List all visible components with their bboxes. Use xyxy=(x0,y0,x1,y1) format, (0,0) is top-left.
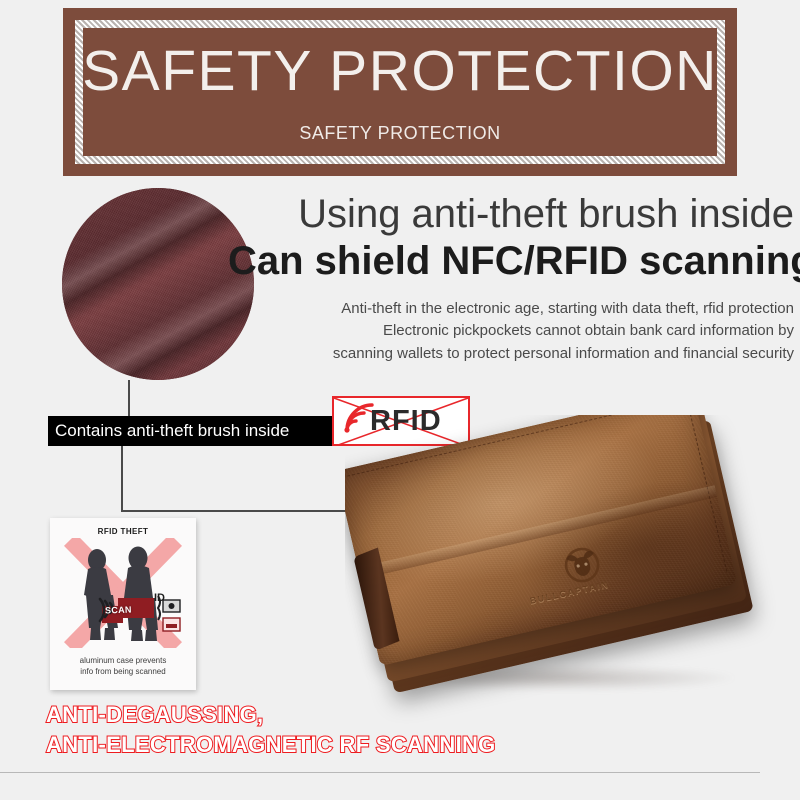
body-line-1: Anti-theft in the electronic age, starti… xyxy=(228,298,794,321)
banner-subtitle: SAFETY PROTECTION xyxy=(299,124,500,142)
wallet-product-image: BULLCAPTAIN xyxy=(345,415,800,745)
headline-line-1: Using anti-theft brush inside xyxy=(228,192,794,237)
theft-card-title: RFID THEFT xyxy=(50,527,196,536)
product-infographic: SAFETY PROTECTION SAFETY PROTECTION Usin… xyxy=(0,0,800,800)
wallet-leather-grain xyxy=(345,415,737,666)
bottom-divider xyxy=(0,772,760,773)
leader-line-label-down xyxy=(121,446,123,512)
footer-claim-line-2: ANTI-ELECTROMAGNETIC RF SCANNING xyxy=(46,730,496,760)
headline-block: Using anti-theft brush inside Can shield… xyxy=(228,192,794,365)
headline-body: Anti-theft in the electronic age, starti… xyxy=(228,298,794,366)
headline-line-2: Can shield NFC/RFID scanning xyxy=(228,239,794,284)
banner-title: SAFETY PROTECTION xyxy=(82,43,718,100)
callout-label-text: Contains anti-theft brush inside xyxy=(55,421,289,441)
rfid-theft-card: RFID THEFT xyxy=(50,518,196,690)
wallet-front-panel: BULLCAPTAIN xyxy=(345,415,737,666)
fabric-closeup-circle xyxy=(62,188,254,380)
footer-claim-line-1: ANTI-DEGAUSSING, xyxy=(46,700,496,730)
header-banner: SAFETY PROTECTION SAFETY PROTECTION xyxy=(63,8,737,176)
fabric-fold-shading xyxy=(62,188,254,380)
theft-card-caption-line-1: aluminum case prevents xyxy=(50,655,196,667)
theft-card-caption: aluminum case prevents info from being s… xyxy=(50,655,196,678)
theft-card-id-label: ID xyxy=(154,592,165,604)
leader-line-circle-to-label xyxy=(128,380,130,416)
theft-card-caption-line-2: info from being scanned xyxy=(50,666,196,678)
banner-inner: SAFETY PROTECTION SAFETY PROTECTION xyxy=(83,28,717,156)
footer-claim-block: ANTI-DEGAUSSING, ANTI-ELECTROMAGNETIC RF… xyxy=(46,700,496,759)
callout-label-bar: Contains anti-theft brush inside xyxy=(48,416,333,446)
theft-card-scan-label: SCAN xyxy=(105,605,132,616)
body-line-3: scanning wallets to protect personal inf… xyxy=(228,343,794,366)
bank-card-icon xyxy=(163,618,180,631)
id-card-icon xyxy=(163,600,180,612)
body-line-2: Electronic pickpockets cannot obtain ban… xyxy=(228,320,794,343)
